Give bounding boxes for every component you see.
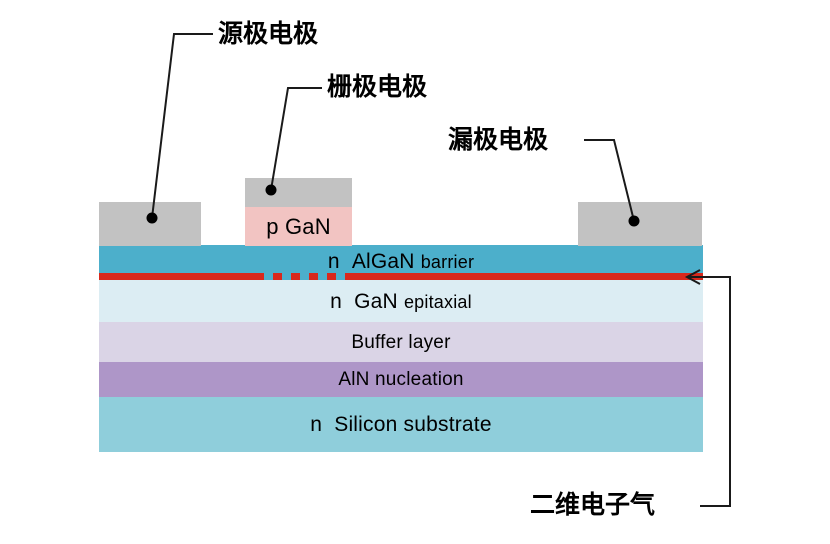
annotation-gate-electrode: 栅极电极 [327, 74, 427, 99]
layer-silicon-substrate: n Silicon substrate [99, 397, 703, 452]
source-electrode-pad [99, 202, 201, 246]
annotation-source-electrode: 源极电极 [218, 21, 318, 46]
layer-gan-epitaxial-label: n GaN epitaxial [330, 291, 472, 312]
p-gan-label: p GaN [266, 216, 331, 238]
layer-algan-label: n AlGaN barrier [328, 251, 474, 272]
two-dimensional-electron-gas-line [99, 273, 703, 280]
leader-line-source [152, 34, 213, 218]
layer-aln-nucleation-label: AlN nucleation [338, 370, 463, 389]
device-cross-section-diagram: n AlGaN barrier n GaN epitaxial Buffer l… [0, 0, 830, 544]
layer-buffer: Buffer layer [99, 322, 703, 362]
p-gan-gate-layer: p GaN [245, 207, 352, 246]
layer-silicon-substrate-label: n Silicon substrate [310, 414, 491, 435]
drain-electrode-pad [578, 202, 702, 246]
layer-buffer-label: Buffer layer [351, 333, 450, 352]
layer-aln-nucleation: AlN nucleation [99, 362, 703, 397]
annotation-drain-electrode: 漏极电极 [448, 127, 548, 152]
two-dimensional-electron-gas-dashed-segment [255, 273, 347, 280]
layer-gan-epitaxial: n GaN epitaxial [99, 280, 703, 322]
annotation-two-dimensional-electron-gas: 二维电子气 [530, 492, 655, 517]
leader-line-gate [271, 88, 322, 190]
gate-electrode-pad [245, 178, 352, 208]
